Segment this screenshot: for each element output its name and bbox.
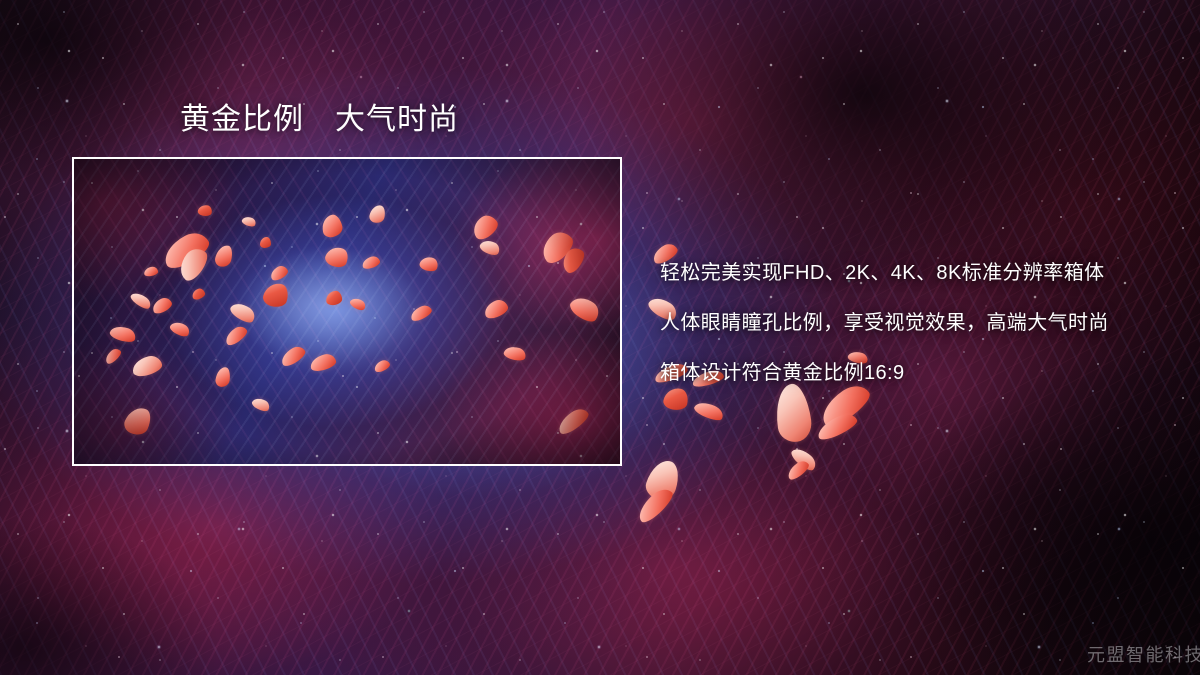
page-title: 黄金比例 大气时尚 xyxy=(180,100,459,141)
slide-canvas: 黄金比例 大气时尚 轻松完美实现FHD、2K、4K、8K标准分辨率箱体 人体眼睛… xyxy=(0,0,1200,675)
body-line: 人体眼睛瞳孔比例，享受视觉效果，高端大气时尚 xyxy=(660,306,1109,335)
body-line: 箱体设计符合黄金比例16:9 xyxy=(660,356,1109,385)
photo-vignette xyxy=(74,159,620,464)
framed-photo xyxy=(72,157,622,466)
body-copy: 轻松完美实现FHD、2K、4K、8K标准分辨率箱体 人体眼睛瞳孔比例，享受视觉效… xyxy=(660,256,1109,385)
body-line: 轻松完美实现FHD、2K、4K、8K标准分辨率箱体 xyxy=(660,256,1109,285)
watermark: 元盟智能科技 xyxy=(1087,641,1200,667)
